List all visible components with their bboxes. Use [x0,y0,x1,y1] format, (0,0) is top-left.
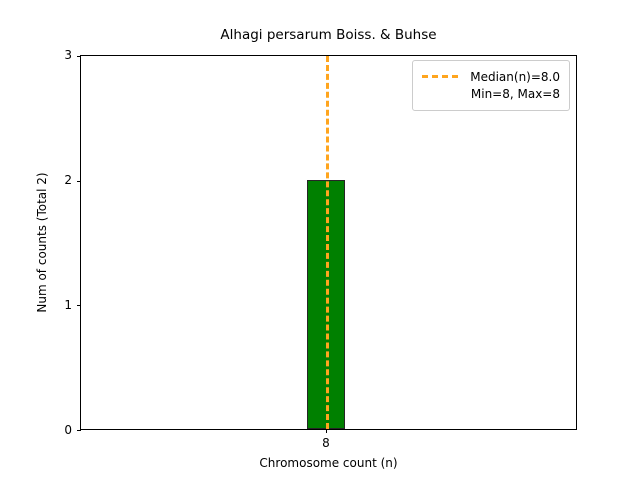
y-tick-label-2: 2 [56,173,72,187]
y-axis-label: Num of counts (Total 2) [33,55,51,430]
page-title: Alhagi persarum Boiss. & Buhse [80,27,577,43]
y-tick-mark-0 [77,430,81,431]
dashed-line-icon [422,75,458,78]
legend-label-median: Median(n)=8.0 [467,70,560,84]
legend: Median(n)=8.0 Min=8, Max=8 [412,60,570,111]
y-tick-label-1: 1 [56,298,72,312]
legend-entry-minmax: Min=8, Max=8 [422,85,560,102]
plot-area [80,55,577,430]
plot-inner [81,56,576,429]
x-axis-label: Chromosome count (n) [80,456,577,470]
legend-entry-median: Median(n)=8.0 [422,68,560,85]
median-line [326,56,329,429]
chart-figure: Alhagi persarum Boiss. & Buhse 0 1 2 3 8… [0,0,640,480]
y-tick-label-0: 0 [56,423,72,437]
x-tick-label-8: 8 [322,436,330,450]
legend-label-minmax: Min=8, Max=8 [467,87,560,101]
x-tick-mark-8 [326,429,327,433]
y-tick-label-3: 3 [56,48,72,62]
